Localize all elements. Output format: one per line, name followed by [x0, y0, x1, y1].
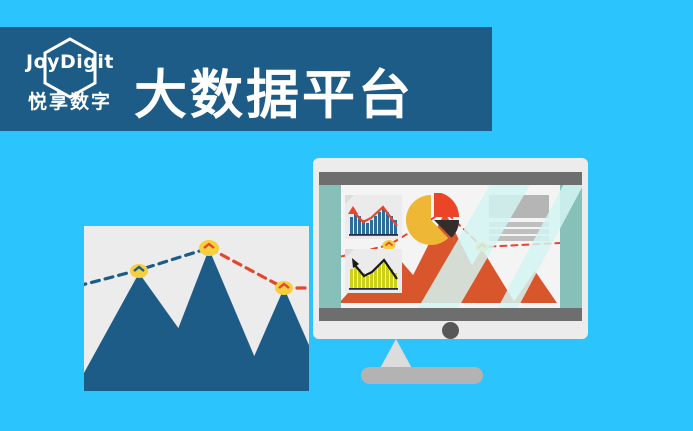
area-mountain-far-right: [513, 271, 557, 303]
content-placeholder: [489, 195, 549, 241]
data-point-marker: [199, 240, 219, 256]
card-fold-corner: [345, 249, 354, 258]
monitor-bottom-bezel: [319, 308, 582, 321]
header-banner: JoyDigit 悦享数字 大数据平台: [0, 27, 492, 131]
desktop-monitor: [313, 158, 588, 339]
pie-chart[interactable]: [405, 193, 461, 249]
text-line-placeholder: [489, 222, 549, 227]
monitor-top-bezel: [319, 172, 582, 185]
text-line-placeholder: [489, 236, 549, 241]
screen-accent-band-right: [560, 185, 582, 308]
mountain-trend-panel: [84, 226, 309, 391]
bar-chart-card-blue[interactable]: [345, 195, 402, 239]
monitor-stand-base: [361, 367, 483, 384]
mountain-trend-chart: [84, 226, 309, 391]
text-line-placeholder: [489, 229, 549, 234]
pie-slice-red: [434, 193, 459, 217]
card-fold-corner: [345, 195, 354, 204]
screen-accent-band-left: [319, 185, 341, 308]
arrow-head-up: [348, 206, 358, 214]
trend-line-left-segment: [84, 248, 209, 286]
logo-wordmark: JoyDigit: [16, 51, 124, 73]
trend-line-right-segment: [209, 248, 309, 288]
mountain-shape-right: [239, 288, 309, 391]
bar-chart-card-yellow[interactable]: [345, 249, 402, 293]
axis-line: [349, 234, 398, 236]
image-placeholder: [489, 195, 549, 218]
monitor-screen: [319, 185, 582, 308]
illustration-stage: JoyDigit 悦享数字 大数据平台: [0, 0, 693, 431]
axis-line: [349, 288, 398, 290]
page-title: 大数据平台: [134, 69, 414, 122]
dashboard-content: [341, 185, 560, 308]
monitor-camera-dot: [442, 322, 459, 339]
brand-logo: JoyDigit 悦享数字: [16, 35, 124, 123]
bar-series-blue: [350, 208, 397, 234]
logo-subtitle: 悦享数字: [16, 87, 124, 114]
